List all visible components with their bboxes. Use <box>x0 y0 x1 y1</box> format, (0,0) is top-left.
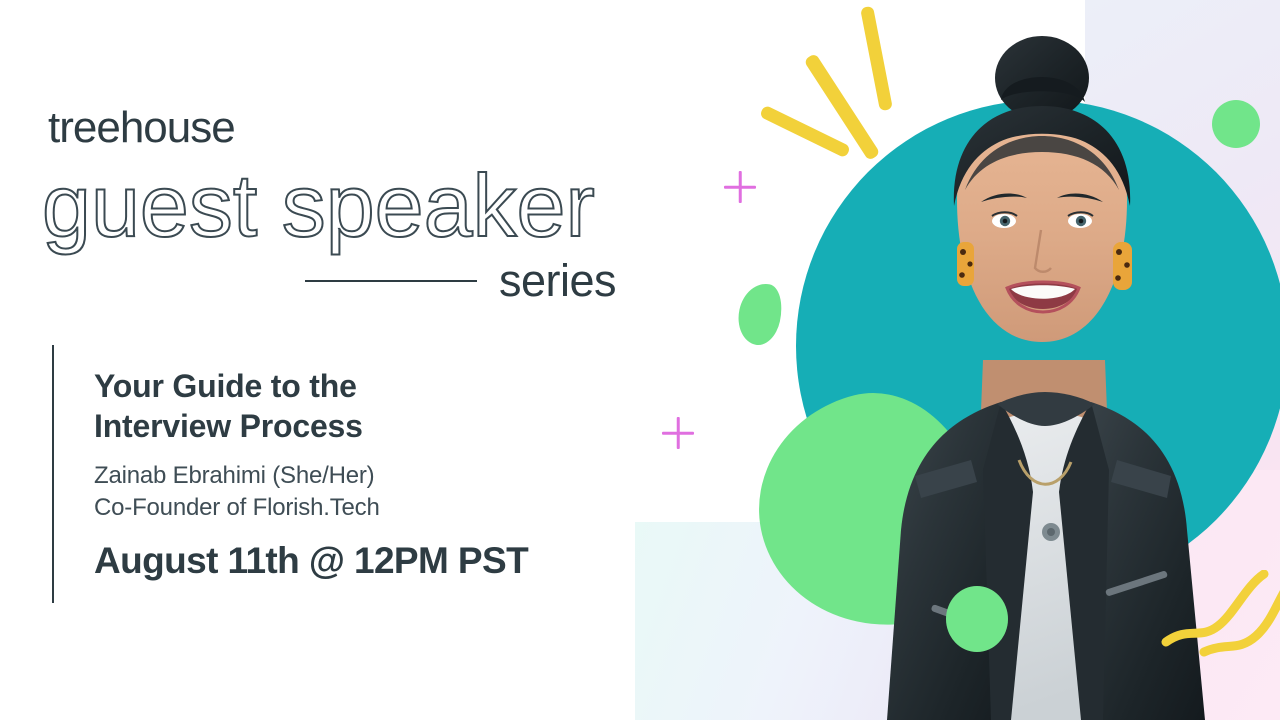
yellow-squiggle-icon <box>1160 570 1280 680</box>
green-circle-bottom-shape <box>946 586 1008 652</box>
event-datetime: August 11th @ 12PM PST <box>94 524 528 579</box>
plus-mark-icon <box>724 171 756 203</box>
series-row: series <box>305 258 635 303</box>
talk-title-line-1: Your Guide to the <box>94 368 357 404</box>
series-divider-rule <box>305 280 477 282</box>
talk-title-line-2: Interview Process <box>94 408 363 444</box>
page-title: guest speaker <box>42 160 595 252</box>
poster-canvas: treehouse guest speaker series Your Guid… <box>0 0 1280 720</box>
series-label: series <box>499 258 616 303</box>
speaker-details: Zainab Ebrahimi (She/Her) Co-Founder of … <box>94 446 528 524</box>
speaker-name: Zainab Ebrahimi (She/Her) <box>94 460 528 492</box>
brand-wordmark: treehouse <box>48 106 235 150</box>
content-column: treehouse guest speaker series Your Guid… <box>0 0 700 720</box>
speaker-role: Co-Founder of Florish.Tech <box>94 492 528 524</box>
talk-title: Your Guide to the Interview Process <box>94 345 528 446</box>
event-info-block: Your Guide to the Interview Process Zain… <box>52 345 528 603</box>
green-blob-small-shape <box>733 279 787 348</box>
